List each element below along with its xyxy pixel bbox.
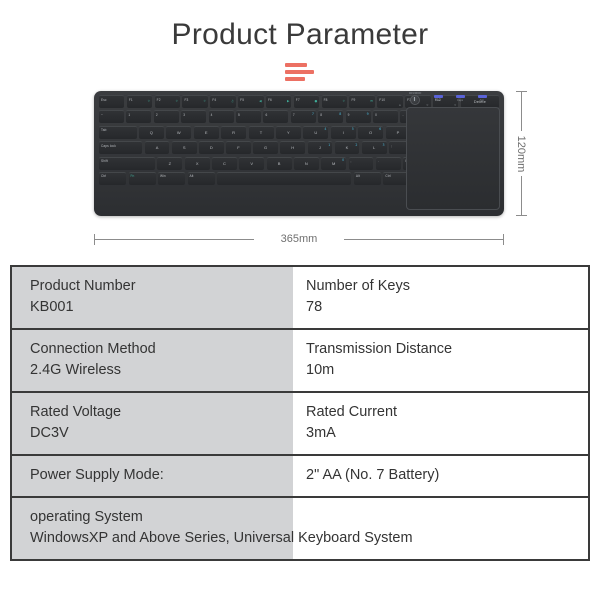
key-label: 6 bbox=[265, 113, 267, 117]
key-fn-mark: ☼ bbox=[203, 100, 206, 104]
key-label: F4 bbox=[212, 98, 216, 102]
product-figure: Esc F1☼ F2☼ F3☼ F4♫ F5◀ F6▶ F7● F8☼ F9✉ … bbox=[0, 89, 600, 249]
spec-value: 10m bbox=[306, 360, 588, 381]
key-numpad-label: 2 bbox=[355, 144, 357, 148]
key-capslock: Caps lock bbox=[99, 141, 142, 154]
key-f4: F4♫ bbox=[210, 95, 235, 108]
spec-value: 2" AA (No. 7 Battery) bbox=[306, 467, 439, 483]
key-tab: Tab bbox=[99, 126, 137, 139]
key-fn-mark: ☼ bbox=[342, 100, 345, 104]
page-title: Product Parameter bbox=[0, 0, 600, 52]
key-label: Ctrl bbox=[101, 174, 106, 178]
key-label: 0 bbox=[375, 113, 377, 117]
title-ornament bbox=[285, 63, 315, 81]
key-label: 1 bbox=[128, 113, 130, 117]
table-row: Connection Method 2.4G Wireless Transmis… bbox=[12, 330, 588, 393]
key-label: F7 bbox=[296, 98, 300, 102]
key-esc: Esc bbox=[99, 95, 124, 108]
key-f1: F1☼ bbox=[127, 95, 152, 108]
key-label: 2 bbox=[156, 113, 158, 117]
key-fn-mark: ☼ bbox=[175, 100, 178, 104]
key-label: F8 bbox=[324, 98, 328, 102]
key-label: X bbox=[185, 162, 210, 166]
key-label: Fn bbox=[131, 174, 135, 178]
key-x: X bbox=[185, 157, 210, 170]
key-label: Alt bbox=[190, 174, 194, 178]
table-cell-right: 2" AA (No. 7 Battery) bbox=[293, 456, 588, 496]
spec-label: Transmission Distance bbox=[306, 341, 452, 357]
key-label: Alt bbox=[356, 174, 360, 178]
key-4: 4 bbox=[209, 110, 234, 123]
key-fn-mark: ▶ bbox=[287, 100, 289, 104]
key-label: C bbox=[212, 162, 237, 166]
key-numpad-label: 1 bbox=[328, 144, 330, 148]
key-8: 88 bbox=[318, 110, 343, 123]
key-n: N bbox=[294, 157, 319, 170]
key-label: 3 bbox=[183, 113, 185, 117]
table-cell-right: Transmission Distance 10m bbox=[293, 330, 588, 391]
key-f2: F2☼ bbox=[155, 95, 180, 108]
key-label: 5 bbox=[238, 113, 240, 117]
key-7: 77 bbox=[291, 110, 316, 123]
key-numpad-label: 7 bbox=[312, 113, 314, 117]
key-shift-left: Shift bbox=[99, 157, 155, 170]
keyboard-image: Esc F1☼ F2☼ F3☼ F4♫ F5◀ F6▶ F7● F8☼ F9✉ … bbox=[94, 91, 504, 216]
key-numpad-label: 3 bbox=[383, 144, 385, 148]
key-fn-mark: ♫ bbox=[231, 100, 234, 104]
key-label: Z bbox=[157, 162, 182, 166]
spec-label: operating System bbox=[30, 509, 143, 525]
table-cell-left: Connection Method 2.4G Wireless bbox=[12, 330, 293, 391]
key-numpad-label: 6 bbox=[379, 128, 381, 132]
key-space bbox=[217, 172, 351, 185]
key-6: 6 bbox=[263, 110, 288, 123]
touchpad bbox=[406, 107, 500, 210]
key-1: 1 bbox=[126, 110, 151, 123]
table-cell-left: Power Supply Mode: bbox=[12, 456, 293, 496]
table-cell-left: Rated Voltage DC3V bbox=[12, 393, 293, 454]
key-label: 7 bbox=[293, 113, 295, 117]
key-label: N bbox=[294, 162, 319, 166]
key-label: F5 bbox=[240, 98, 244, 102]
key-alt-left: Alt bbox=[188, 172, 215, 185]
key-numpad-label: 0 bbox=[342, 159, 344, 163]
key-label: Win bbox=[160, 174, 166, 178]
dimension-tick-right bbox=[503, 234, 504, 245]
key-h: H bbox=[280, 141, 305, 154]
ornament-bar-2 bbox=[285, 70, 314, 74]
key-tilde: ~ bbox=[99, 110, 124, 123]
key-f5: F5◀ bbox=[238, 95, 263, 108]
spec-label: Power Supply Mode: bbox=[30, 467, 164, 483]
key-alt-right: Alt bbox=[354, 172, 381, 185]
key-f10: F10⌂ bbox=[377, 95, 402, 108]
key-w: W bbox=[166, 126, 191, 139]
key-label: . bbox=[378, 159, 379, 163]
spec-value: 3mA bbox=[306, 423, 588, 444]
key-period: . bbox=[376, 157, 401, 170]
key-3: 3 bbox=[181, 110, 206, 123]
key-l: L3 bbox=[362, 141, 387, 154]
key-label: Esc bbox=[101, 98, 107, 102]
key-label: F1 bbox=[129, 98, 133, 102]
key-f6: F6▶ bbox=[266, 95, 291, 108]
key-m: M0 bbox=[321, 157, 346, 170]
spec-label: Number of Keys bbox=[306, 278, 410, 294]
key-r: R bbox=[221, 126, 246, 139]
key-label: , bbox=[351, 159, 352, 163]
dimension-height: 120mm bbox=[512, 91, 530, 216]
key-win: Win bbox=[158, 172, 185, 185]
ornament-bar-3 bbox=[285, 77, 305, 81]
key-label: E bbox=[194, 131, 219, 135]
table-cell-right: Number of Keys 78 bbox=[293, 267, 588, 328]
scroll-lock-led-label: Scr bbox=[474, 99, 490, 102]
key-u: U4 bbox=[303, 126, 328, 139]
key-5: 5 bbox=[236, 110, 261, 123]
key-s: S bbox=[172, 141, 197, 154]
key-label: F9 bbox=[351, 98, 355, 102]
dimension-line-bottom bbox=[521, 176, 522, 216]
key-label: F6 bbox=[268, 98, 272, 102]
key-label: 4 bbox=[211, 113, 213, 117]
spec-label: Product Number bbox=[30, 278, 136, 294]
key-f3: F3☼ bbox=[182, 95, 207, 108]
key-label: Y bbox=[276, 131, 301, 135]
table-row: Power Supply Mode: 2" AA (No. 7 Battery) bbox=[12, 456, 588, 498]
key-label: S bbox=[172, 146, 197, 150]
key-label: V bbox=[239, 162, 264, 166]
spec-label: Rated Current bbox=[306, 404, 397, 420]
key-g: G bbox=[253, 141, 278, 154]
key-label: A bbox=[145, 146, 170, 150]
key-fn-mark: ◀ bbox=[259, 100, 261, 104]
key-f9: F9✉ bbox=[349, 95, 374, 108]
key-label: Shift bbox=[101, 159, 108, 163]
key-label: F2 bbox=[157, 98, 161, 102]
table-row: operating System WindowsXP and Above Ser… bbox=[12, 498, 588, 559]
power-label: ON/OFF bbox=[409, 91, 422, 95]
spec-label: Connection Method bbox=[30, 341, 156, 357]
key-y: Y bbox=[276, 126, 301, 139]
power-button-icon bbox=[410, 95, 420, 105]
key-label: - bbox=[402, 113, 403, 117]
spec-value: DC3V bbox=[30, 423, 293, 444]
key-label: ; bbox=[391, 144, 392, 148]
key-j: J1 bbox=[308, 141, 333, 154]
key-9: 99 bbox=[346, 110, 371, 123]
spec-value: KB001 bbox=[30, 297, 293, 318]
dimension-height-label: 120mm bbox=[515, 135, 527, 172]
key-d: D bbox=[199, 141, 224, 154]
key-label: T bbox=[249, 131, 274, 135]
key-label: R bbox=[221, 131, 246, 135]
table-cell-left: operating System WindowsXP and Above Ser… bbox=[12, 498, 413, 559]
spec-value: WindowsXP and Above Series, Universal Ke… bbox=[30, 528, 413, 549]
key-label: Caps lock bbox=[101, 144, 116, 148]
key-v: V bbox=[239, 157, 264, 170]
dimension-width: 365mm bbox=[94, 231, 504, 247]
key-fn-mark: ✉ bbox=[370, 100, 373, 104]
key-ctrl-left: Ctrl bbox=[99, 172, 126, 185]
key-0: 0 bbox=[373, 110, 398, 123]
key-label: G bbox=[253, 146, 278, 150]
key-label: D bbox=[199, 146, 224, 150]
dimension-tick-bottom bbox=[516, 215, 527, 216]
key-label: Q bbox=[139, 131, 164, 135]
key-a: A bbox=[145, 141, 170, 154]
keyboard-status-strip: ON/OFF Num Caps Scr bbox=[408, 91, 500, 106]
key-label: 8 bbox=[320, 113, 322, 117]
key-q: Q bbox=[139, 126, 164, 139]
key-k: K2 bbox=[335, 141, 360, 154]
table-cell-left: Product Number KB001 bbox=[12, 267, 293, 328]
dimension-line-top bbox=[521, 91, 522, 131]
key-fn-mark: ● bbox=[314, 100, 317, 104]
key-f: F bbox=[226, 141, 251, 154]
key-comma: , bbox=[349, 157, 374, 170]
key-label: F10 bbox=[379, 98, 385, 102]
key-z: Z bbox=[157, 157, 182, 170]
table-row: Product Number KB001 Number of Keys 78 bbox=[12, 267, 588, 330]
key-fn: Fn bbox=[129, 172, 156, 185]
key-label: 9 bbox=[348, 113, 350, 117]
ornament-bar-1 bbox=[285, 63, 307, 67]
key-numpad-label: 9 bbox=[367, 113, 369, 117]
key-label: Ctrl bbox=[385, 174, 390, 178]
key-label: F bbox=[226, 146, 251, 150]
key-alt-label: ⌂ bbox=[399, 104, 401, 107]
dimension-line-right bbox=[344, 239, 504, 240]
key-numpad-label: 5 bbox=[352, 128, 354, 132]
table-cell-right: Rated Current 3mA bbox=[293, 393, 588, 454]
spec-value: 2.4G Wireless bbox=[30, 360, 293, 381]
key-label: ~ bbox=[101, 113, 103, 117]
table-row: Rated Voltage DC3V Rated Current 3mA bbox=[12, 393, 588, 456]
key-2: 2 bbox=[154, 110, 179, 123]
key-f8: F8☼ bbox=[322, 95, 347, 108]
key-label: Tab bbox=[101, 128, 106, 132]
key-label: B bbox=[267, 162, 292, 166]
key-label: W bbox=[166, 131, 191, 135]
key-numpad-label: 4 bbox=[324, 128, 326, 132]
key-i: I5 bbox=[331, 126, 356, 139]
num-lock-led-label: Num bbox=[430, 99, 446, 102]
key-fn-mark: ☼ bbox=[147, 100, 150, 104]
key-f7: F7● bbox=[294, 95, 319, 108]
key-label: F3 bbox=[184, 98, 188, 102]
key-label: H bbox=[280, 146, 305, 150]
specification-table: Product Number KB001 Number of Keys 78 C… bbox=[10, 265, 590, 561]
key-c: C bbox=[212, 157, 237, 170]
spec-label: Rated Voltage bbox=[30, 404, 121, 420]
key-numpad-label: 8 bbox=[339, 113, 341, 117]
key-o: O6 bbox=[358, 126, 383, 139]
key-t: T bbox=[249, 126, 274, 139]
key-b: B bbox=[267, 157, 292, 170]
key-e: E bbox=[194, 126, 219, 139]
spec-value: 78 bbox=[306, 297, 588, 318]
caps-lock-led-label: Caps bbox=[452, 99, 468, 102]
